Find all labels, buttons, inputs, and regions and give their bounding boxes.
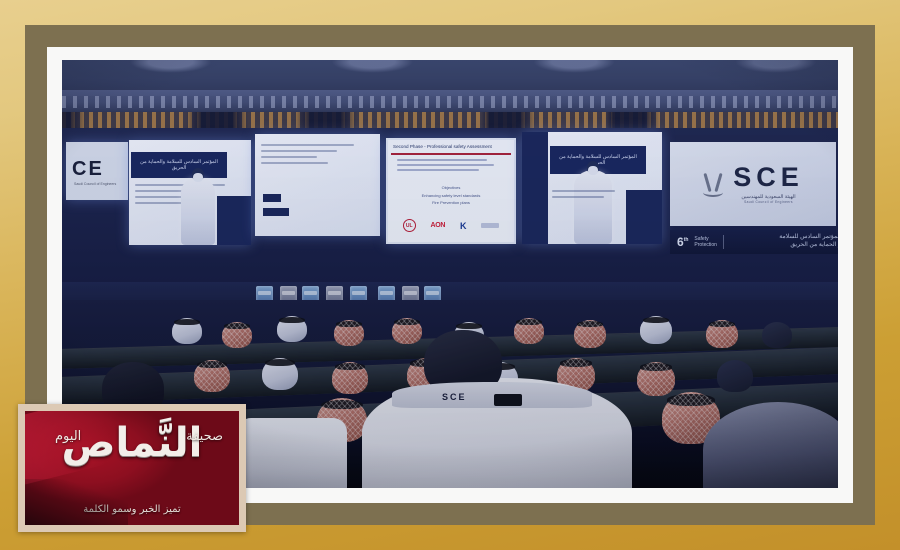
foreground-attendee-collar xyxy=(392,382,592,408)
event-divider xyxy=(723,235,724,249)
agal-band xyxy=(456,323,481,329)
speaker-figure-right xyxy=(574,170,612,244)
newspaper-watermark-logo: اليوم النَّماص صحيفة تميز الخبر وسمو الك… xyxy=(18,404,246,532)
agal-band xyxy=(279,317,304,323)
projection-screen-left: المؤتمر السادس للسلامة والحماية من الحري… xyxy=(129,140,251,245)
agal-band xyxy=(560,359,592,366)
slide-line xyxy=(552,196,604,198)
sce-badge-text: SCE xyxy=(442,392,467,402)
projection-screen-center: Second Phase - Professional safety Asses… xyxy=(386,138,516,244)
agal-band xyxy=(516,319,541,325)
event-banner-strip: 6th Safety Protection المؤتمر السادس للس… xyxy=(670,230,838,254)
sce-text-block: SCE الهيئة السعودية للمهندسين Saudi Coun… xyxy=(733,164,804,204)
audience-head xyxy=(262,358,298,390)
ce-wordmark: CE xyxy=(72,158,104,181)
speaker-head xyxy=(192,168,204,181)
slide-text-lines xyxy=(552,190,615,202)
slide-bullet xyxy=(397,169,479,171)
event-title-line2: Protection xyxy=(694,242,717,248)
sce-wordmark: SCE xyxy=(733,164,804,191)
empty-chair xyxy=(237,418,347,488)
screen-dark-panel xyxy=(217,196,251,245)
projection-screen-b xyxy=(255,134,380,236)
event-number: 6th xyxy=(677,236,688,248)
audience-head xyxy=(277,316,307,342)
slide-sponsor-logos: UL AON K xyxy=(388,219,514,232)
slide-bullet xyxy=(397,159,487,161)
speaker-figure-left xyxy=(181,177,215,245)
slide-subtitle-block: Objectives Enhancing safety level standa… xyxy=(388,184,514,207)
agal-band xyxy=(335,363,365,370)
presentation-slide: Second Phase - Professional safety Asses… xyxy=(388,140,514,242)
event-number-ordinal: th xyxy=(684,237,689,243)
agal-band xyxy=(709,321,736,327)
screen-dark-panel xyxy=(522,132,548,244)
ul-logo: UL xyxy=(403,219,416,232)
agal-band xyxy=(640,363,672,370)
slide-subtitle-2: Enhancing safety level standards xyxy=(388,192,514,200)
slide-bullet xyxy=(397,164,494,166)
audience-head xyxy=(222,322,252,348)
conference-banner-left: المؤتمر السادس للسلامة والحماية من الحري… xyxy=(131,152,227,178)
agal-band xyxy=(336,321,361,327)
slide-title: Second Phase - Professional safety Asses… xyxy=(393,144,500,150)
slide-subtitle-3: Fire Prevention plans xyxy=(388,199,514,207)
sce-signage-board: SCE الهيئة السعودية للمهندسين Saudi Coun… xyxy=(670,142,836,226)
slide-text-lines xyxy=(261,144,354,168)
audience-head xyxy=(706,320,738,348)
audience-head xyxy=(332,362,368,394)
agal-band xyxy=(197,361,227,368)
audience-head xyxy=(640,316,672,344)
event-arabic-line2: و الحماية من الحريق xyxy=(779,242,838,250)
agal-band xyxy=(224,323,249,329)
audience-head xyxy=(334,320,364,346)
audience-head xyxy=(762,322,792,348)
slide-line xyxy=(261,162,328,164)
slide-line xyxy=(261,156,317,158)
watermark-tagline: تميز الخبر وسمو الكلمة xyxy=(25,504,239,515)
audience-head xyxy=(717,360,753,392)
agal-band xyxy=(643,317,670,323)
slide-bullets xyxy=(397,159,502,174)
slide-line xyxy=(261,150,337,152)
audience-head xyxy=(574,320,606,348)
audience-head xyxy=(514,318,544,344)
ceiling-domes xyxy=(62,60,838,82)
k-logo: K xyxy=(460,221,467,231)
event-number-value: 6 xyxy=(677,235,684,249)
slide-line xyxy=(552,190,615,192)
slide-line xyxy=(261,144,354,146)
agal-band xyxy=(667,394,716,405)
ce-sublabel: Saudi Council of Engineers xyxy=(74,182,116,186)
agal-band xyxy=(265,359,295,366)
audience-head xyxy=(172,318,202,344)
projection-screen-right: المؤتمر السادس للسلامة والحماية من الحري… xyxy=(522,132,662,244)
agal-band xyxy=(577,321,604,327)
slide-subtitle-1: Objectives xyxy=(388,184,514,192)
wall-arch-mask xyxy=(62,112,838,128)
audience-head xyxy=(637,362,675,396)
audience-head xyxy=(194,360,230,392)
audience-head xyxy=(392,318,422,344)
agal-band xyxy=(394,319,419,325)
screenshot-root: CE Saudi Council of Engineers المؤتمر ال… xyxy=(0,0,900,550)
screen-dark-panel xyxy=(626,190,662,244)
screen-dark-panel xyxy=(263,194,281,202)
event-arabic-line1: المؤتمر السادس للسلامة xyxy=(779,234,838,242)
screen-dark-panel xyxy=(263,208,289,216)
slide-title-rule xyxy=(391,153,511,155)
aon-logo: AON xyxy=(431,222,446,229)
cornice-dentils xyxy=(62,96,838,108)
agal-band xyxy=(321,400,363,410)
event-arabic-title: المؤتمر السادس للسلامة و الحماية من الحر… xyxy=(779,234,838,250)
left-wall-board: CE Saudi Council of Engineers xyxy=(66,142,128,200)
partner-logo xyxy=(481,223,499,228)
event-english-title: Safety Protection xyxy=(694,236,717,249)
sce-english-name: Saudi Council of Engineers xyxy=(744,200,793,204)
lanyard-badge-icon xyxy=(494,394,522,406)
watermark-sahifa: صحيفة xyxy=(186,429,223,444)
palm-swords-emblem-icon xyxy=(702,171,724,197)
watermark-inner: اليوم النَّماص صحيفة تميز الخبر وسمو الك… xyxy=(25,411,239,525)
agal-band xyxy=(174,319,199,325)
speaker-head xyxy=(587,161,599,174)
